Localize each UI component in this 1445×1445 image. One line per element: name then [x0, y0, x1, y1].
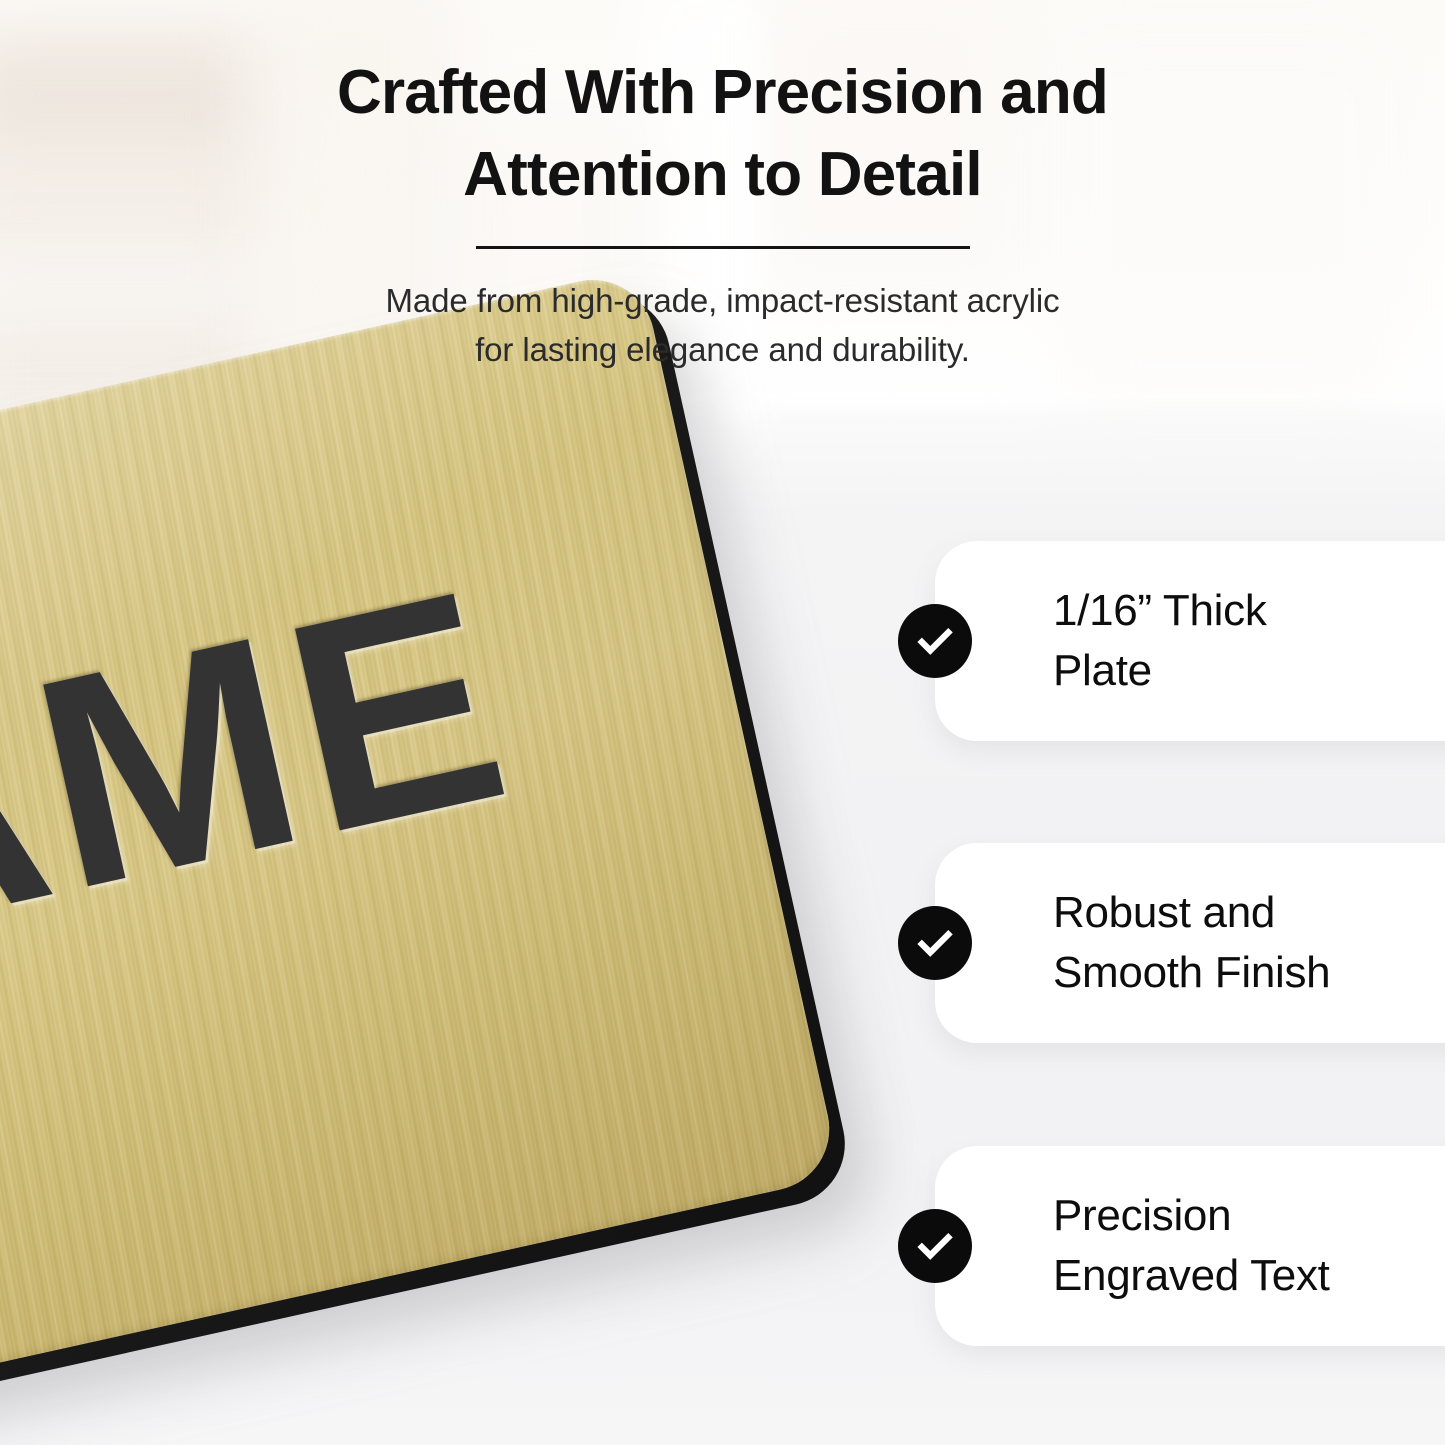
feature-card-label: Precision Engraved Text: [1053, 1186, 1330, 1306]
check-circle-icon: [898, 906, 972, 980]
headline-line-1: Crafted With Precision and: [0, 52, 1445, 134]
feature-line-1: Robust and: [1053, 883, 1330, 943]
page-title: Crafted With Precision and Attention to …: [0, 52, 1445, 217]
feature-card-label: Robust and Smooth Finish: [1053, 883, 1330, 1003]
feature-line-2: Engraved Text: [1053, 1246, 1330, 1306]
nameplate-rotation-group: NAME: [0, 255, 915, 1445]
product-feature-banner: Crafted With Precision and Attention to …: [0, 0, 1445, 1445]
feature-card[interactable]: Precision Engraved Text: [935, 1146, 1445, 1346]
feature-line-2: Plate: [1053, 641, 1267, 701]
feature-card[interactable]: Robust and Smooth Finish: [935, 843, 1445, 1043]
check-circle-icon: [898, 604, 972, 678]
page-subtitle: Made from high-grade, impact-resistant a…: [0, 277, 1445, 375]
feature-line-1: Precision: [1053, 1186, 1330, 1246]
title-divider: [476, 246, 970, 249]
nameplate-face: NAME: [0, 268, 841, 1434]
feature-line-2: Smooth Finish: [1053, 943, 1330, 1003]
feature-card-label: 1/16” Thick Plate: [1053, 581, 1267, 701]
nameplate-product-image: NAME: [0, 365, 820, 1365]
headline-line-2: Attention to Detail: [0, 134, 1445, 216]
subhead-line-1: Made from high-grade, impact-resistant a…: [0, 277, 1445, 326]
feature-card[interactable]: 1/16” Thick Plate: [935, 541, 1445, 741]
subhead-line-2: for lasting elegance and durability.: [0, 326, 1445, 375]
check-circle-icon: [898, 1209, 972, 1283]
feature-line-1: 1/16” Thick: [1053, 581, 1267, 641]
